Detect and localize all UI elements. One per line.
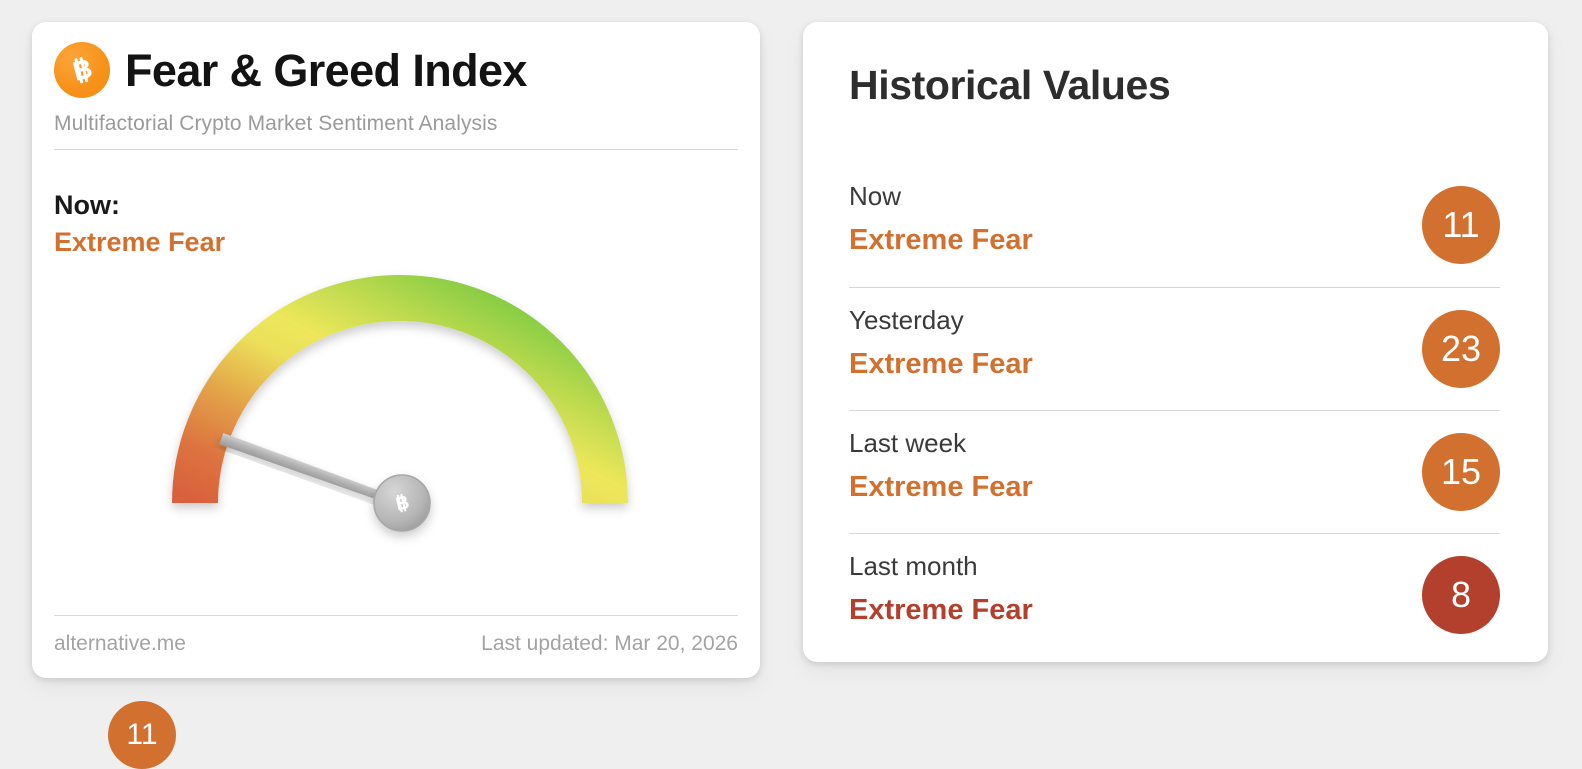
historical-title: Historical Values: [849, 62, 1170, 109]
list-item[interactable]: Last week Extreme Fear 15: [849, 410, 1500, 533]
now-label: Now:: [54, 190, 225, 222]
period-label: Yesterday: [849, 305, 1500, 336]
historical-values-card: Historical Values Now Extreme Fear 11 Ye…: [803, 22, 1548, 662]
fear-greed-dashboard: Fear & Greed Index Multifactorial Crypto…: [0, 0, 1582, 704]
now-classification: Extreme Fear: [54, 227, 225, 259]
list-item[interactable]: Yesterday Extreme Fear 23: [849, 287, 1500, 410]
gauge-svg: [140, 258, 660, 608]
classification-label: Extreme Fear: [849, 470, 1500, 505]
list-item[interactable]: Now Extreme Fear 11: [849, 164, 1500, 287]
period-label: Last month: [849, 551, 1500, 582]
current-reading: Now: Extreme Fear: [54, 190, 225, 259]
gauge-chart: 11: [32, 258, 760, 608]
value-badge: 23: [1422, 310, 1500, 388]
bitcoin-icon: [54, 42, 110, 98]
value-badge: 11: [1422, 186, 1500, 264]
footer-row: alternative.me Last updated: Mar 20, 202…: [54, 632, 738, 656]
fear-greed-index-card: Fear & Greed Index Multifactorial Crypto…: [32, 22, 760, 678]
value-badge: 15: [1422, 433, 1500, 511]
title-row: Fear & Greed Index: [54, 42, 738, 98]
footer-divider: [54, 615, 738, 616]
period-label: Now: [849, 181, 1500, 212]
gauge-value-badge: 11: [108, 701, 176, 769]
card-subtitle: Multifactorial Crypto Market Sentiment A…: [54, 112, 738, 136]
source-link[interactable]: alternative.me: [54, 632, 186, 656]
card-header: Fear & Greed Index Multifactorial Crypto…: [54, 42, 738, 150]
value-badge: 8: [1422, 556, 1500, 634]
list-item[interactable]: Last month Extreme Fear 8: [849, 533, 1500, 656]
classification-label: Extreme Fear: [849, 347, 1500, 382]
classification-label: Extreme Fear: [849, 593, 1500, 628]
page-title: Fear & Greed Index: [125, 48, 527, 93]
card-footer: alternative.me Last updated: Mar 20, 202…: [54, 615, 738, 656]
historical-list: Now Extreme Fear 11 Yesterday Extreme Fe…: [849, 164, 1500, 656]
classification-label: Extreme Fear: [849, 223, 1500, 258]
period-label: Last week: [849, 428, 1500, 459]
header-divider: [54, 149, 738, 150]
last-updated-text: Last updated: Mar 20, 2026: [481, 632, 738, 656]
